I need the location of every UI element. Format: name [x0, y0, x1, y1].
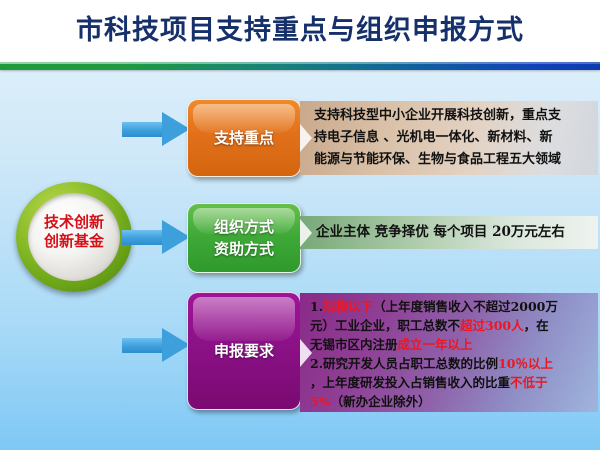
center-badge-text: 技术创新 创新基金 — [28, 213, 120, 251]
content-span: （上年度销售收入不超过2000万 — [373, 299, 558, 314]
title-band: 市科技项目支持重点与组织申报方式 — [0, 0, 600, 62]
page-title: 市科技项目支持重点与组织申报方式 — [0, 8, 600, 47]
content-line: 元）工业企业，职工总数不超过300人，在 — [310, 316, 596, 335]
category-box-label: 支持重点 — [188, 128, 300, 148]
arrow-shaft — [122, 338, 166, 353]
band-pointer-icon — [300, 124, 312, 152]
arrow-to-support-focus — [122, 112, 190, 146]
arrow-to-application-requirements — [122, 328, 190, 362]
content-span-highlight: 超过300人 — [460, 318, 524, 333]
center-badge-face: 技术创新 创新基金 — [28, 193, 120, 281]
content-line: 2.研究开发人员占职工总数的比例10％以上 — [310, 354, 596, 373]
content-line: 企业主体 竞争择优 每个项目 20万元左右 — [316, 222, 594, 242]
content-text-organization-method: 企业主体 竞争择优 每个项目 20万元左右 — [316, 222, 594, 242]
content-line: 支持科技型中小企业开展科技创新，重点支 — [314, 105, 594, 127]
content-line: 能源与节能环保、生物与食品工程五大领域 — [314, 149, 594, 171]
content-span-highlight: 不低于 — [510, 375, 548, 390]
category-box-organization-method[interactable]: 组织方式 资助方式 — [187, 203, 301, 273]
box-gloss — [193, 297, 295, 341]
content-span: 2.研究开发人员占职工总数的比例 — [310, 356, 498, 371]
arrow-shaft — [122, 122, 166, 137]
category-box-support-focus[interactable]: 支持重点 — [187, 99, 301, 177]
content-line: 1.规模以下（上年度销售收入不超过2000万 — [310, 297, 596, 316]
content-text-support-focus: 支持科技型中小企业开展科技创新，重点支 持电子信息 、光机电一体化、新材料、新 … — [314, 105, 594, 171]
content-span-highlight: 成立一年以上 — [398, 337, 473, 352]
content-band-organization-method: 企业主体 竞争择优 每个项目 20万元左右 — [300, 216, 598, 249]
category-box-application-requirements[interactable]: 申报要求 — [187, 292, 301, 410]
arrow-to-organization-method — [122, 220, 190, 254]
content-span: （新办企业除外） — [331, 394, 431, 409]
content-span-highlight: 规模以下 — [323, 299, 373, 314]
arrow-head — [162, 220, 190, 254]
arrow-head — [162, 328, 190, 362]
content-text-application-requirements: 1.规模以下（上年度销售收入不超过2000万 元）工业企业，职工总数不超过300… — [310, 297, 596, 411]
center-badge: 技术创新 创新基金 — [16, 182, 132, 292]
content-span: 元）工业企业，职工总数不 — [310, 318, 460, 333]
center-badge-line-1: 技术创新 — [28, 213, 120, 232]
content-line: 5%（新办企业除外） — [310, 392, 596, 411]
content-span: ，在 — [524, 318, 549, 333]
title-divider-highlight — [0, 62, 600, 64]
content-band-support-focus: 支持科技型中小企业开展科技创新，重点支 持电子信息 、光机电一体化、新材料、新 … — [300, 101, 598, 175]
category-box-label: 申报要求 — [188, 341, 300, 361]
content-span-highlight: 10％以上 — [498, 356, 553, 371]
content-band-application-requirements: 1.规模以下（上年度销售收入不超过2000万 元）工业企业，职工总数不超过300… — [300, 293, 598, 412]
category-box-label-line-2: 资助方式 — [188, 239, 300, 259]
content-line: ，上年度研发投入占销售收入的比重不低于 — [310, 373, 596, 392]
arrow-head — [162, 112, 190, 146]
band-pointer-icon — [300, 219, 312, 247]
slide-canvas: 市科技项目支持重点与组织申报方式 技术创新 创新基金 支持重点 支持科技型中小企… — [0, 0, 600, 450]
content-span: 无锡市区内注册 — [310, 337, 398, 352]
content-line: 持电子信息 、光机电一体化、新材料、新 — [314, 127, 594, 149]
content-line: 无锡市区内注册成立一年以上 — [310, 335, 596, 354]
category-box-label-line-1: 组织方式 — [188, 217, 300, 237]
arrow-shaft — [122, 230, 166, 245]
content-span: 1. — [310, 299, 323, 314]
content-span-highlight: 5% — [310, 394, 331, 409]
center-badge-line-2: 创新基金 — [28, 232, 120, 251]
content-span: ，上年度研发投入占销售收入的比重 — [310, 375, 510, 390]
